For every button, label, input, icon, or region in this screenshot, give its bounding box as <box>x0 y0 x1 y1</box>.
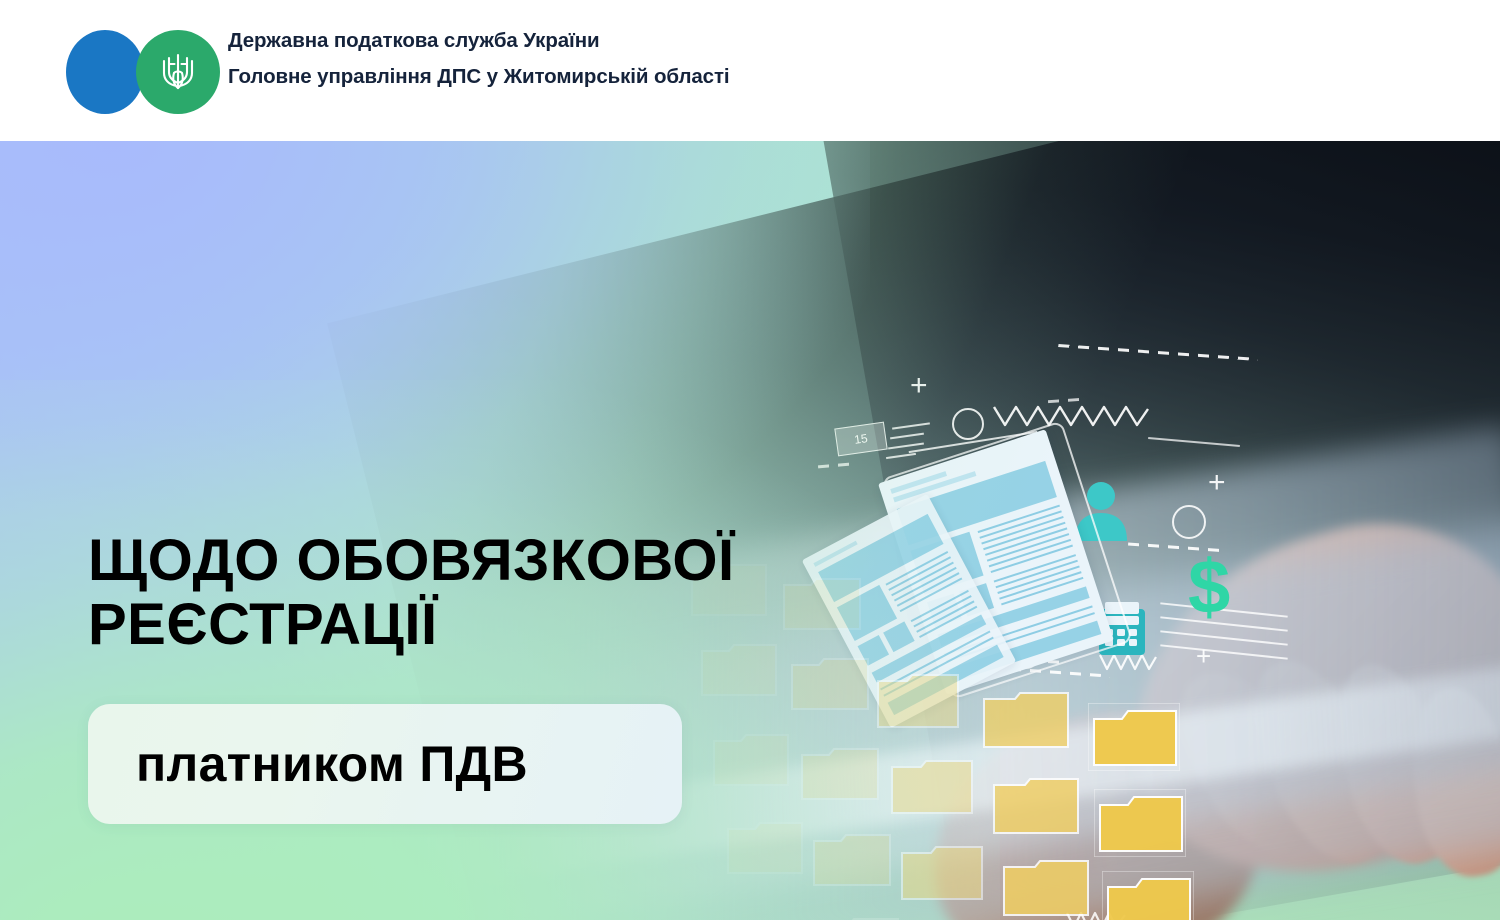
ukrainian-trident-emblem-icon <box>160 50 196 94</box>
site-header: Державна податкова служба України Головн… <box>0 0 1500 141</box>
organization-logo[interactable] <box>66 27 226 115</box>
hero-banner: 15 + + + + <box>0 141 1500 920</box>
banner-page: Державна податкова служба України Головн… <box>0 0 1500 920</box>
organization-name-line2: Головне управління ДПС у Житомирській об… <box>228 64 730 91</box>
organization-name-line1: Державна податкова служба України <box>228 31 730 52</box>
page-title: ЩОДО ОБОВЯЗКОВОЇ РЕЄСТРАЦІЇ <box>88 529 908 658</box>
subtitle-pill: платником ПДВ <box>88 704 682 824</box>
logo-green-circle-icon <box>136 30 220 114</box>
logo-blue-circle-icon <box>66 30 144 114</box>
organization-name-block: Державна податкова служба України Головн… <box>228 31 730 90</box>
subtitle-text: платником ПДВ <box>136 735 528 793</box>
